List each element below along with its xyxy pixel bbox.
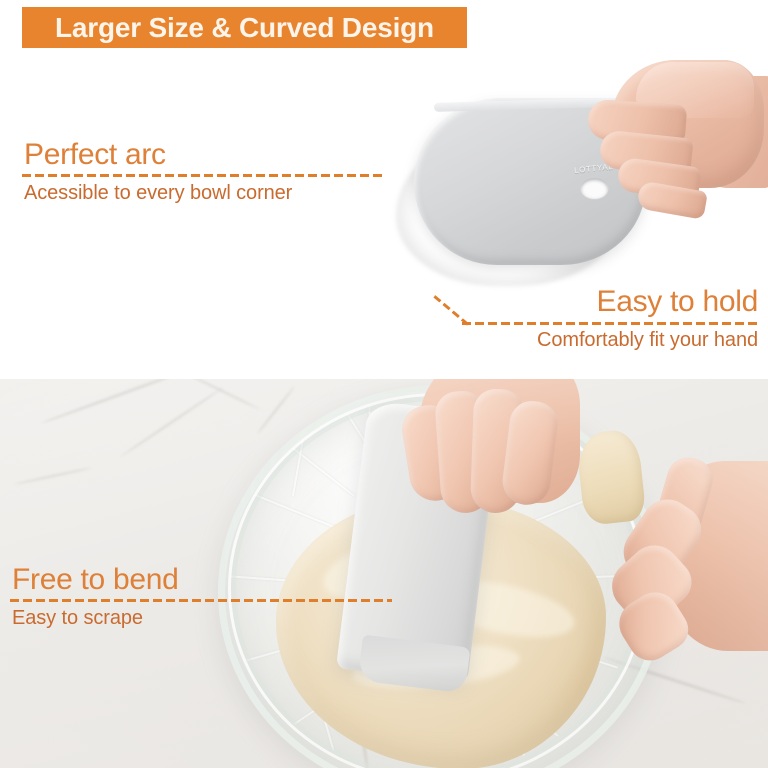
product-photo-top: LOTTYAL — [392, 58, 768, 298]
marble-vein — [257, 386, 296, 435]
banner-title: Larger Size & Curved Design — [55, 14, 434, 42]
marble-vein — [120, 387, 224, 458]
product-infographic: LOTTYAL — [0, 0, 768, 768]
header-banner: Larger Size & Curved Design — [22, 7, 467, 48]
callout-subline: Acessible to every bowl corner — [24, 183, 385, 204]
hand-holding-scraper — [578, 58, 768, 238]
dashed-divider — [10, 599, 392, 602]
dashed-divider — [22, 174, 385, 177]
callout-headline: Perfect arc — [24, 140, 385, 170]
callout-perfect-arc: Perfect arc Acessible to every bowl corn… — [22, 140, 385, 204]
callout-headline: Easy to hold — [462, 287, 758, 317]
callout-easy-to-hold: Easy to hold Comfortably fit your hand — [462, 287, 760, 351]
marble-vein — [15, 467, 92, 485]
callout-free-to-bend: Free to bend Easy to scrape — [10, 565, 392, 629]
marble-vein — [172, 379, 259, 410]
dashed-divider — [462, 322, 760, 325]
callout-subline: Comfortably fit your hand — [462, 330, 758, 351]
hand-steadying-bowl — [614, 437, 768, 687]
callout-headline: Free to bend — [12, 565, 392, 595]
hand-gripping-scraper — [376, 379, 586, 579]
callout-subline: Easy to scrape — [12, 608, 392, 629]
dashed-divider-wrap — [462, 322, 760, 325]
